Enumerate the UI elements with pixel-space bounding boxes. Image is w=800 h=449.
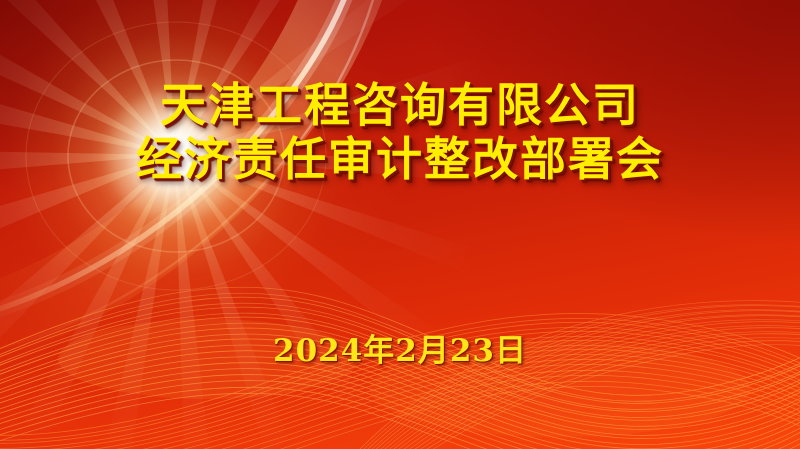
- world-map-decoration: [370, 0, 800, 306]
- conference-backdrop: 天津工程咨询有限公司 经济责任审计整改部署会 2024年2月23日: [0, 0, 800, 449]
